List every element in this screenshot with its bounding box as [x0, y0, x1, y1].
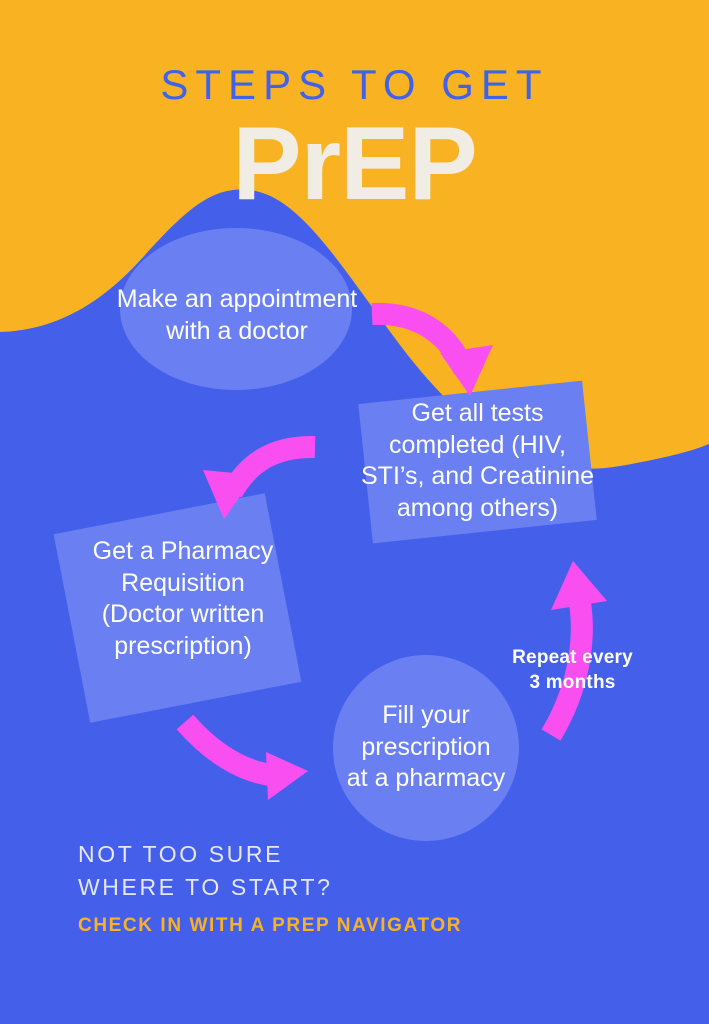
footer-cta[interactable]: CHECK IN WITH A PREP NAVIGATOR: [78, 915, 638, 937]
step-4-label: Fill your prescription at a pharmacy: [318, 700, 534, 795]
step-2-label: Get all tests completed (HIV, STI’s, and…: [325, 398, 630, 524]
poster-canvas: STEPS TO GET PrEP Make an appointment wi…: [0, 0, 709, 1024]
footer-line-2: WHERE TO START?: [78, 871, 638, 904]
repeat-note-label: Repeat every 3 months: [490, 645, 655, 695]
poster-footer: NOT TOO SURE WHERE TO START? CHECK IN WI…: [78, 838, 638, 937]
step-3-label: Get a Pharmacy Requisition (Doctor writt…: [38, 536, 328, 662]
step-1-label: Make an appointment with a doctor: [62, 284, 412, 347]
footer-line-1: NOT TOO SURE: [78, 838, 638, 871]
